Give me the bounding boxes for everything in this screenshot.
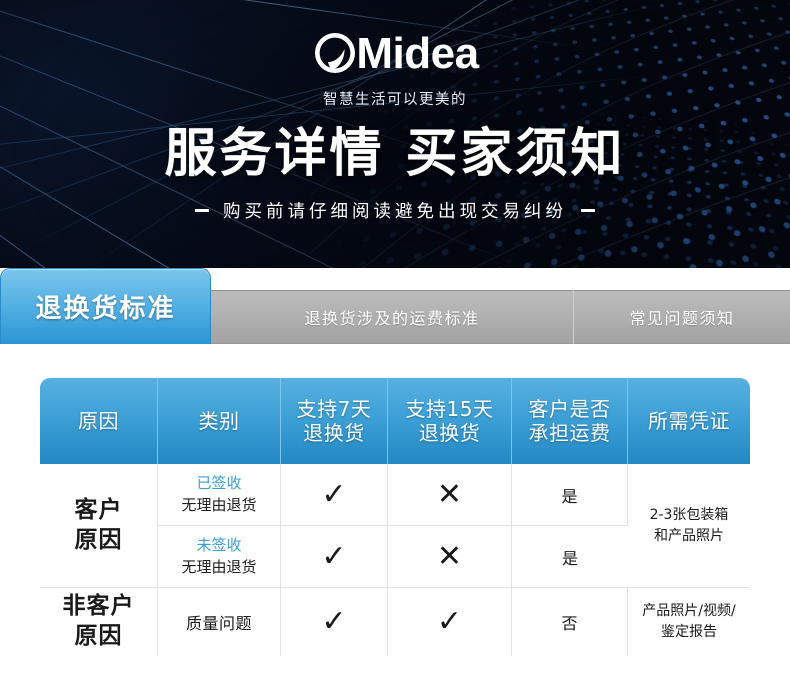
column-header-customer-pays-freight: 客户是否 承担运费 bbox=[512, 378, 628, 464]
header-text-line1: 客户是否 bbox=[529, 397, 611, 421]
cell-proof-customer: 2-3张包装箱 和产品照片 bbox=[628, 464, 750, 588]
cell-category-quality: 质量问题 bbox=[158, 588, 281, 656]
header-text-line1: 支持7天 bbox=[297, 397, 372, 421]
tab-shipping-fee-standard[interactable]: 退换货涉及的运费标准 bbox=[211, 290, 573, 344]
header-text-line1: 支持15天 bbox=[406, 397, 494, 421]
policy-table-wrap: 原因 类别 支持7天 退换货 支持15天 退换货 客户是否 bbox=[0, 344, 790, 656]
table-row: 非客户 原因 质量问题 ✓ ✓ 否 产品照片/视频/ 鉴定报告 bbox=[40, 588, 750, 656]
column-header-reason: 原因 bbox=[40, 378, 158, 464]
midea-arc-icon bbox=[311, 29, 360, 78]
table-row: 客户 原因 已签收 无理由退货 ✓ ✕ 是 2-3张包装箱 和产品照片 bbox=[40, 464, 750, 526]
cell-proof-non-customer: 产品照片/视频/ 鉴定报告 bbox=[628, 588, 750, 656]
tab-label: 退换货标准 bbox=[35, 288, 175, 325]
cell-support15-row3: ✓ bbox=[388, 588, 512, 656]
brand-logo-text: Midea bbox=[356, 29, 478, 78]
category-sub: 无理由退货 bbox=[161, 495, 277, 517]
cell-support15-row1: ✕ bbox=[388, 464, 512, 526]
category-highlight: 已签收 bbox=[161, 473, 277, 495]
page-subtitle-text: 购买前请仔细阅读避免出现交易纠纷 bbox=[223, 198, 567, 223]
category-highlight: 未签收 bbox=[161, 535, 277, 557]
cell-category-unsigned: 未签收 无理由退货 bbox=[158, 526, 281, 588]
column-header-support-7-days: 支持7天 退换货 bbox=[281, 378, 388, 464]
cell-support15-row2: ✕ bbox=[388, 526, 512, 588]
header-text: 类别 bbox=[199, 409, 240, 433]
reason-line2: 原因 bbox=[75, 623, 123, 649]
column-header-category: 类别 bbox=[158, 378, 281, 464]
proof-line2: 鉴定报告 bbox=[661, 624, 717, 640]
header-text-line2: 退换货 bbox=[419, 421, 481, 445]
proof-line2: 和产品照片 bbox=[654, 528, 724, 544]
header-text: 所需凭证 bbox=[648, 409, 730, 433]
tab-faq[interactable]: 常见问题须知 bbox=[573, 290, 790, 344]
tab-label: 常见问题须知 bbox=[629, 305, 734, 329]
reason-line1: 客户 bbox=[75, 497, 123, 523]
cell-category-signed: 已签收 无理由退货 bbox=[158, 464, 281, 526]
reason-line2: 原因 bbox=[75, 527, 123, 553]
proof-line1: 2-3张包装箱 bbox=[650, 507, 729, 523]
page-subtitle: 购买前请仔细阅读避免出现交易纠纷 bbox=[195, 198, 595, 223]
reason-line1: 非客户 bbox=[63, 593, 135, 619]
cell-support7-row2: ✓ bbox=[281, 526, 388, 588]
brand-tagline: 智慧生活可以更美的 bbox=[323, 88, 467, 109]
hero-banner: Midea 智慧生活可以更美的 服务详情 买家须知 购买前请仔细阅读避免出现交易… bbox=[0, 0, 790, 268]
cell-freight-row2: 是 bbox=[512, 526, 628, 588]
column-header-support-15-days: 支持15天 退换货 bbox=[388, 378, 512, 464]
cell-support7-row3: ✓ bbox=[281, 588, 388, 656]
tab-return-exchange-standard[interactable]: 退换货标准 bbox=[0, 268, 211, 344]
header-text-line2: 退换货 bbox=[303, 421, 365, 445]
proof-line1: 产品照片/视频/ bbox=[642, 603, 735, 619]
category-sub: 无理由退货 bbox=[161, 557, 277, 579]
cell-reason-non-customer: 非客户 原因 bbox=[40, 588, 158, 656]
cell-freight-row1: 是 bbox=[512, 464, 628, 526]
page-title: 服务详情 买家须知 bbox=[164, 126, 625, 182]
service-policy-page: Midea 智慧生活可以更美的 服务详情 买家须知 购买前请仔细阅读避免出现交易… bbox=[0, 0, 790, 696]
dash-right-icon bbox=[581, 209, 595, 212]
header-text-line2: 承担运费 bbox=[529, 421, 611, 445]
dash-left-icon bbox=[195, 209, 209, 212]
tab-bar: 退换货标准 退换货涉及的运费标准 常见问题须知 bbox=[0, 268, 790, 344]
return-policy-table: 原因 类别 支持7天 退换货 支持15天 退换货 客户是否 bbox=[40, 378, 750, 656]
table-header-row: 原因 类别 支持7天 退换货 支持15天 退换货 客户是否 bbox=[40, 378, 750, 464]
brand-logo: Midea bbox=[311, 27, 478, 79]
tab-label: 退换货涉及的运费标准 bbox=[304, 305, 479, 329]
header-text: 原因 bbox=[78, 409, 119, 433]
cell-reason-customer: 客户 原因 bbox=[40, 464, 158, 588]
column-header-required-proof: 所需凭证 bbox=[628, 378, 750, 464]
table-body: 客户 原因 已签收 无理由退货 ✓ ✕ 是 2-3张包装箱 和产品照片 bbox=[40, 464, 750, 656]
cell-support7-row1: ✓ bbox=[281, 464, 388, 526]
table-header: 原因 类别 支持7天 退换货 支持15天 退换货 客户是否 bbox=[40, 378, 750, 464]
cell-freight-row3: 否 bbox=[512, 588, 628, 656]
